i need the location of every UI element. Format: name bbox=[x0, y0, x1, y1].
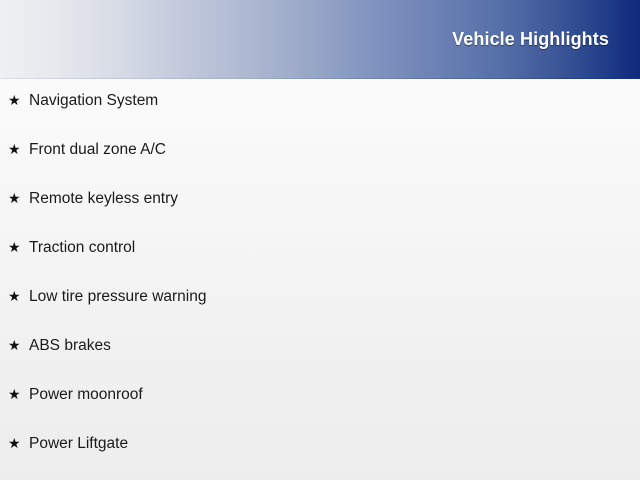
star-icon: ★ bbox=[8, 240, 29, 254]
list-item-label: Power Liftgate bbox=[29, 436, 128, 452]
list-item: ★ ABS brakes bbox=[0, 338, 640, 387]
star-icon: ★ bbox=[8, 191, 29, 205]
star-icon: ★ bbox=[8, 289, 29, 303]
header-divider bbox=[0, 78, 640, 79]
list-item: ★ Power moonroof bbox=[0, 387, 640, 436]
star-icon: ★ bbox=[8, 338, 29, 352]
list-item: ★ Front dual zone A/C bbox=[0, 142, 640, 191]
list-item-label: Power moonroof bbox=[29, 387, 143, 403]
list-item-label: Low tire pressure warning bbox=[29, 289, 206, 305]
list-item: ★ Traction control bbox=[0, 240, 640, 289]
list-item: ★ Low tire pressure warning bbox=[0, 289, 640, 338]
list-item-label: Front dual zone A/C bbox=[29, 142, 166, 158]
list-item-label: Remote keyless entry bbox=[29, 191, 178, 207]
list-item-label: Navigation System bbox=[29, 93, 158, 109]
star-icon: ★ bbox=[8, 436, 29, 450]
list-item-label: ABS brakes bbox=[29, 338, 111, 354]
star-icon: ★ bbox=[8, 387, 29, 401]
list-item: ★ Navigation System bbox=[0, 93, 640, 142]
star-icon: ★ bbox=[8, 142, 29, 156]
list-item: ★ Remote keyless entry bbox=[0, 191, 640, 240]
list-item: ★ Power Liftgate bbox=[0, 436, 640, 480]
list-item-label: Traction control bbox=[29, 240, 135, 256]
vehicle-highlights-list: ★ Navigation System ★ Front dual zone A/… bbox=[0, 93, 640, 480]
header-banner: Vehicle Highlights bbox=[0, 0, 640, 79]
star-icon: ★ bbox=[8, 93, 29, 107]
vehicle-highlights-slide: Vehicle Highlights ★ Navigation System ★… bbox=[0, 0, 640, 480]
page-title: Vehicle Highlights bbox=[452, 29, 609, 50]
